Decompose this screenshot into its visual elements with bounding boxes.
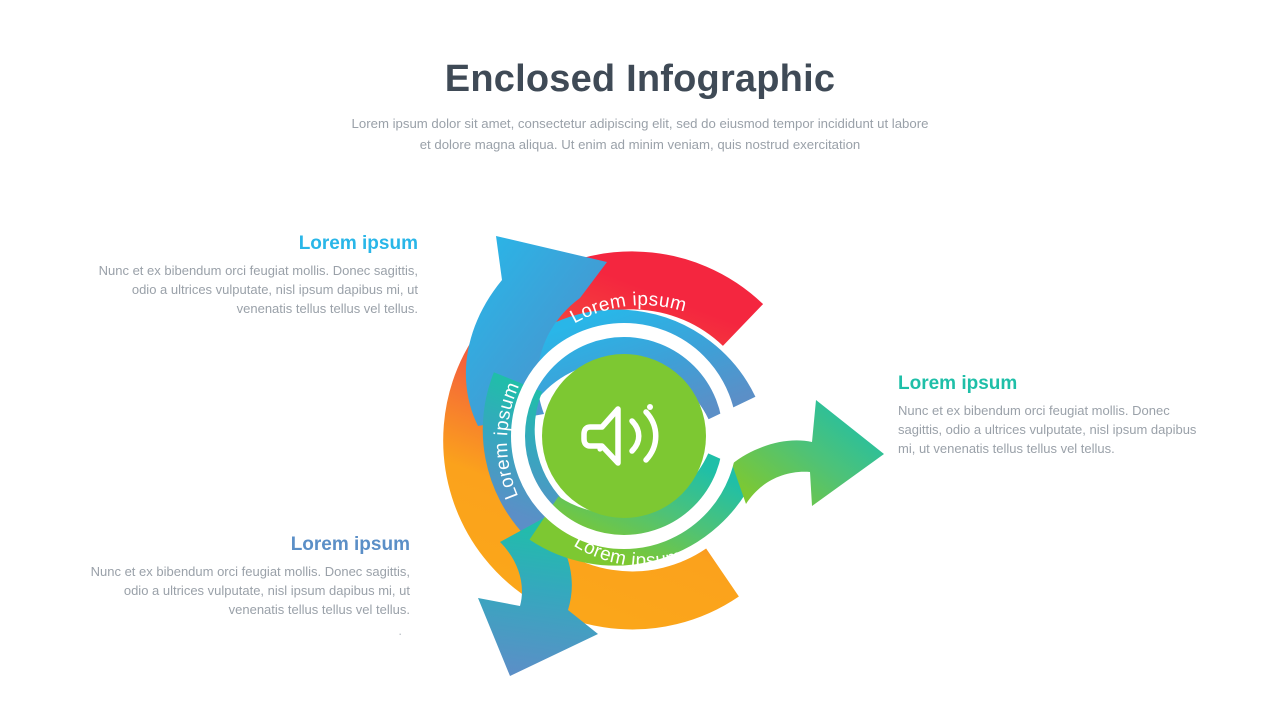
callout-right-heading: Lorem ipsum: [898, 372, 1210, 396]
page-subtitle: Lorem ipsum dolor sit amet, consectetur …: [350, 114, 930, 156]
page-title: Enclosed Infographic: [0, 58, 1280, 102]
callout-bottom-left-trailing-mark: .: [78, 623, 402, 638]
header: Enclosed Infographic Lorem ipsum dolor s…: [0, 58, 1280, 155]
infographic-slide: Enclosed Infographic Lorem ipsum dolor s…: [0, 0, 1280, 720]
callout-right-body: Nunc et ex bibendum orci feugiat mollis.…: [898, 401, 1210, 459]
arrow-right: [732, 400, 884, 506]
circular-cycle-diagram: Lorem ipsum Lorem ipsum Lorem ipsum: [392, 186, 892, 686]
callout-bottom-left-body: Nunc et ex bibendum orci feugiat mollis.…: [78, 562, 410, 620]
callout-top-left[interactable]: Lorem ipsum Nunc et ex bibendum orci feu…: [88, 232, 418, 318]
callout-top-left-heading: Lorem ipsum: [88, 232, 418, 256]
callout-top-left-body: Nunc et ex bibendum orci feugiat mollis.…: [88, 261, 418, 319]
center-disc[interactable]: [542, 354, 706, 518]
callout-right[interactable]: Lorem ipsum Nunc et ex bibendum orci feu…: [898, 372, 1210, 458]
callout-bottom-left[interactable]: Lorem ipsum Nunc et ex bibendum orci feu…: [78, 533, 410, 638]
callout-bottom-left-heading: Lorem ipsum: [78, 533, 410, 557]
